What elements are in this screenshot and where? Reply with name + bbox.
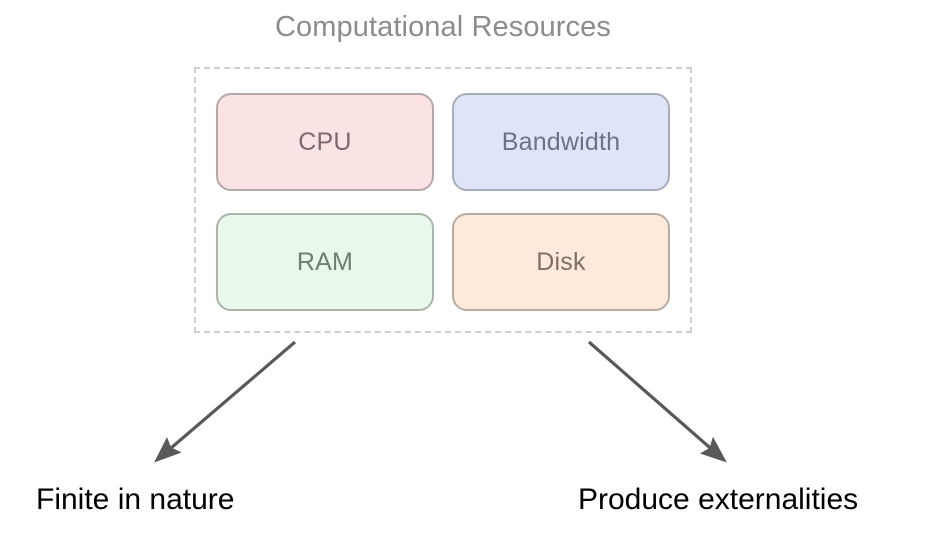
outcome-label-finite: Finite in nature [36,482,234,518]
resource-grid: CPU Bandwidth RAM Disk [216,93,670,311]
resource-box-disk[interactable]: Disk [452,213,670,311]
resource-label-cpu: CPU [298,128,351,157]
page-title: Computational Resources [194,9,692,45]
arrow-to-finite [157,342,295,460]
resource-label-disk: Disk [536,248,585,277]
outcome-label-externalities: Produce externalities [578,482,858,518]
resource-label-ram: RAM [297,248,353,277]
resource-box-bandwidth[interactable]: Bandwidth [452,93,670,191]
diagram-canvas: Computational Resources CPU Bandwidth RA… [0,0,930,540]
resource-box-cpu[interactable]: CPU [216,93,434,191]
resource-label-bandwidth: Bandwidth [502,128,621,157]
resource-box-ram[interactable]: RAM [216,213,434,311]
arrow-to-externalities [589,342,724,460]
